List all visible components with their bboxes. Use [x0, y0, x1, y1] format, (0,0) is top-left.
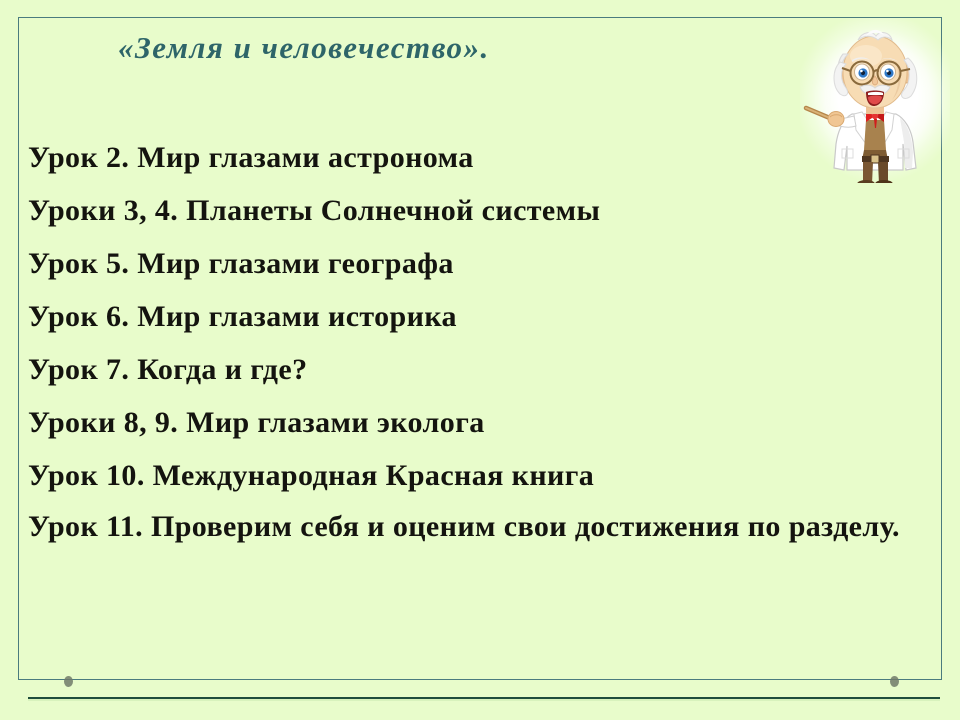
lesson-item: Урок 5. Мир глазами географа [28, 237, 918, 290]
lesson-list: Урок 2. Мир глазами астронома Уроки 3, 4… [28, 131, 918, 552]
lesson-item: Урок 11. Проверим себя и оценим свои дос… [28, 502, 918, 552]
bottom-rule [28, 697, 940, 701]
corner-dot-left [64, 676, 73, 687]
lesson-item: Урок 10. Международная Красная книга [28, 449, 918, 502]
head [834, 30, 917, 109]
lesson-item: Уроки 3, 4. Планеты Солнечной системы [28, 184, 918, 237]
bottom-rule-light-line [28, 699, 940, 701]
slide-canvas: «Земля и человечество». [0, 0, 960, 720]
lesson-item: Урок 7. Когда и где? [28, 343, 918, 396]
page-title: «Земля и человечество». [118, 30, 490, 66]
hand-left [828, 112, 844, 127]
lesson-item: Урок 6. Мир глазами историка [28, 290, 918, 343]
lesson-item: Урок 2. Мир глазами астронома [28, 131, 918, 184]
corner-dot-right [890, 676, 899, 687]
lesson-item: Уроки 8, 9. Мир глазами эколога [28, 396, 918, 449]
